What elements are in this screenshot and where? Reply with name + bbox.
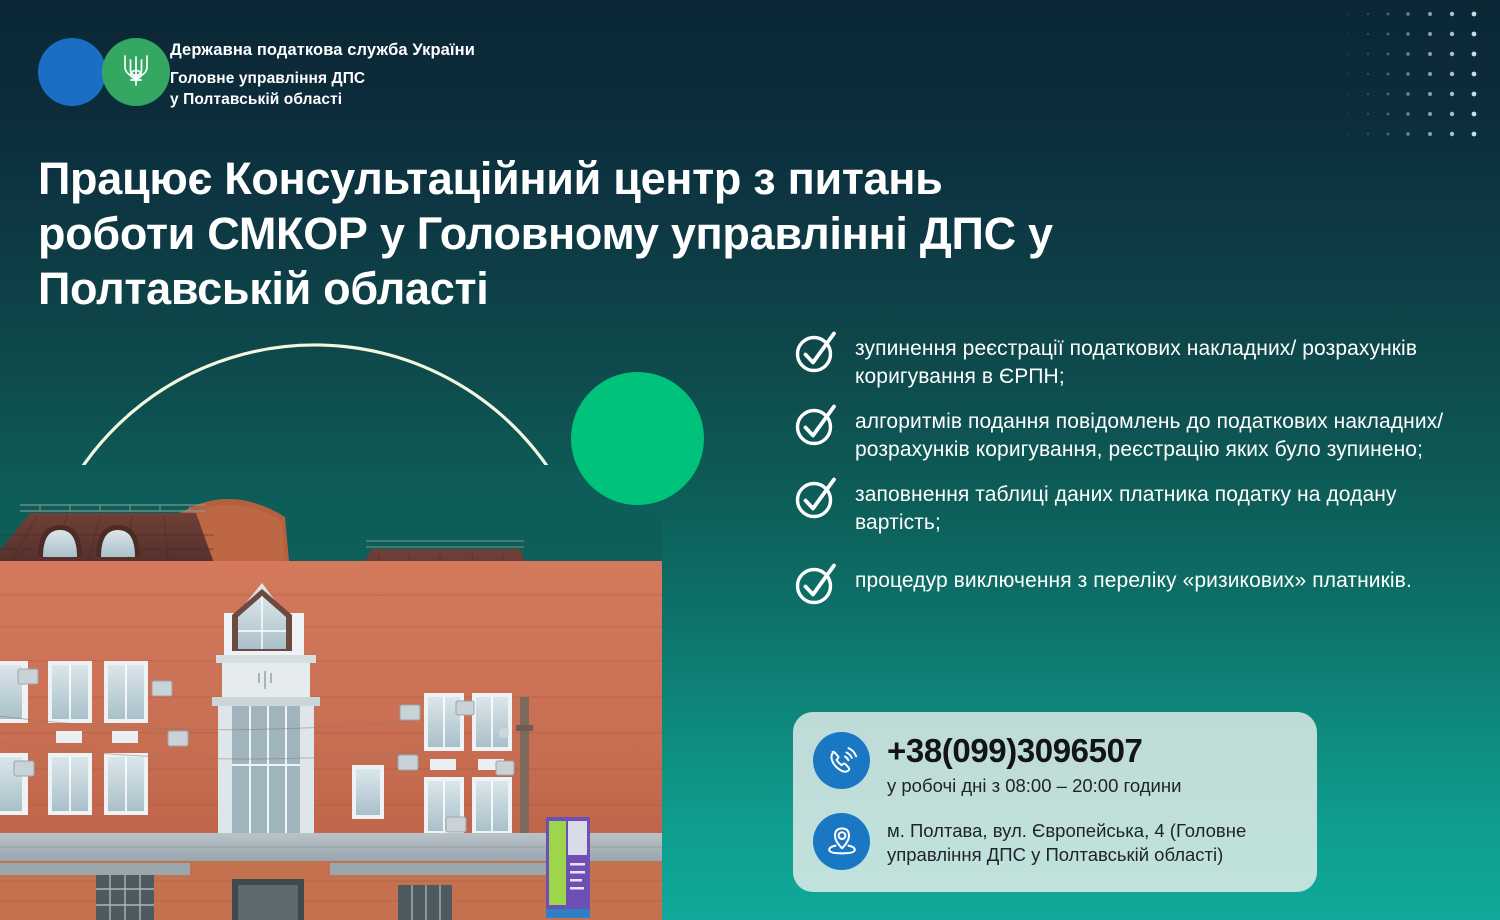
list-item: заповнення таблиці даних платника податк… [793, 478, 1453, 536]
list-item: зупинення реєстрації податкових накладни… [793, 332, 1453, 390]
working-hours: у робочі дні з 08:00 – 20:00 години [887, 774, 1181, 797]
list-item: процедур виключення з переліку «ризикови… [793, 564, 1453, 608]
check-circle-icon [793, 562, 839, 608]
list-item-label: заповнення таблиці даних платника податк… [855, 478, 1453, 536]
phone-number[interactable]: +38(099)3096507 [887, 733, 1181, 769]
trident-icon [121, 51, 151, 94]
brand-header: Державна податкова служба України Головн… [38, 38, 475, 110]
check-circle-icon [793, 476, 839, 522]
poster-canvas: Державна податкова служба України Головн… [0, 0, 1500, 920]
list-item-label: процедур виключення з переліку «ризикови… [855, 564, 1412, 595]
logo-blue-circle [38, 38, 106, 106]
green-circle-decoration [571, 372, 704, 505]
building-photo [0, 465, 662, 920]
contact-phone-row[interactable]: +38(099)3096507 у робочі дні з 08:00 – 2… [813, 732, 1293, 797]
check-circle-icon [793, 330, 839, 376]
dot-grid-decoration [1340, 0, 1500, 150]
department-name: Головне управління ДПС у Полтавській обл… [170, 69, 475, 111]
list-item: алгоритмів подання повідомлень до податк… [793, 405, 1453, 463]
contact-address-body: м. Полтава, вул. Європейська, 4 (Головне… [887, 813, 1293, 868]
topics-list: зупинення реєстрації податкових накладни… [793, 332, 1453, 608]
phone-call-icon [813, 732, 870, 789]
contact-card: +38(099)3096507 у робочі дні з 08:00 – 2… [793, 712, 1317, 892]
address: м. Полтава, вул. Європейська, 4 (Головне… [887, 814, 1293, 868]
check-circle-icon [793, 403, 839, 449]
list-item-label: зупинення реєстрації податкових накладни… [855, 332, 1453, 390]
map-pin-icon [813, 813, 870, 870]
logo-green-circle [102, 38, 170, 106]
brand-text-block: Державна податкова служба України Головн… [170, 38, 475, 110]
contact-address-row[interactable]: м. Полтава, вул. Європейська, 4 (Головне… [813, 813, 1293, 870]
list-item-label: алгоритмів подання повідомлень до податк… [855, 405, 1453, 463]
contact-phone-body: +38(099)3096507 у робочі дні з 08:00 – 2… [887, 732, 1181, 797]
organization-name: Державна податкова служба України [170, 40, 475, 61]
page-title: Працює Консультаційний центр з питань ро… [38, 152, 1068, 317]
logo-marks [38, 38, 170, 106]
